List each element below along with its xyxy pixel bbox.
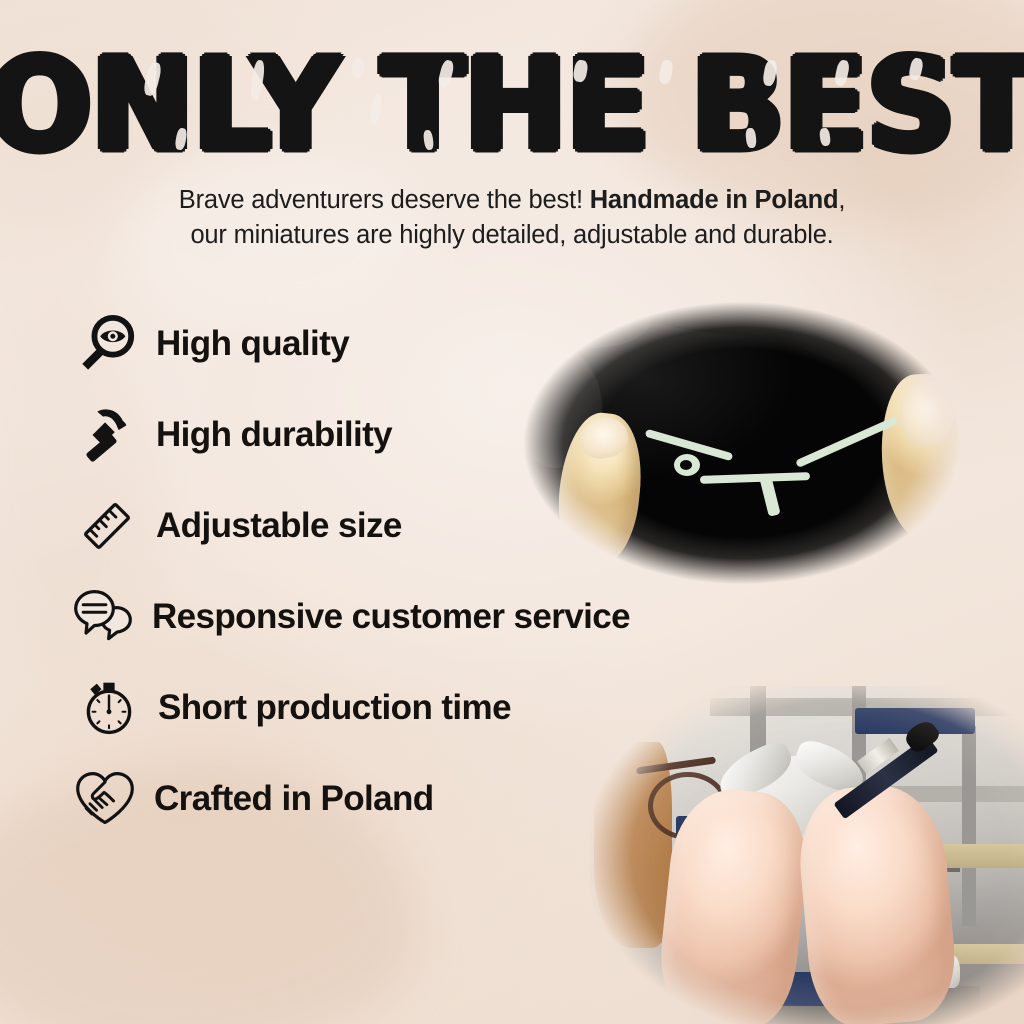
infographic-page: ONLY THE BEST Brave adventurers deserve … <box>0 0 1024 1024</box>
hammer-icon <box>70 398 144 472</box>
shelf-post <box>962 726 976 926</box>
subtitle-line-2: our miniatures are highly detailed, adju… <box>0 218 1024 253</box>
heart-handshake-icon <box>68 762 142 836</box>
feature-item-high-quality[interactable]: High quality <box>70 305 349 383</box>
feature-item-short-production-time[interactable]: Short production time <box>72 669 511 747</box>
torn-edge-patch <box>594 742 672 948</box>
subtitle-lead: Brave adventurers deserve the best! <box>179 186 590 214</box>
subtitle: Brave adventurers deserve the best! Hand… <box>0 183 1024 253</box>
chat-bubbles-icon <box>66 580 140 654</box>
feature-label: Short production time <box>158 688 511 728</box>
feature-item-high-durability[interactable]: High durability <box>70 396 392 474</box>
flexible-miniature-photo <box>492 278 992 608</box>
feature-label: Adjustable size <box>156 506 402 546</box>
magnifier-eye-icon <box>70 307 144 381</box>
feature-label: Crafted in Poland <box>154 779 434 819</box>
subtitle-line-1: Brave adventurers deserve the best! Hand… <box>0 183 1024 218</box>
ruler-icon <box>70 489 144 563</box>
feature-item-crafted-in-poland[interactable]: Crafted in Poland <box>68 760 434 838</box>
page-title: ONLY THE BEST <box>0 42 1024 170</box>
feature-label: High durability <box>156 415 392 455</box>
feature-item-adjustable-size[interactable]: Adjustable size <box>70 487 402 565</box>
workshop-painting-photo <box>590 686 1024 1024</box>
headline-container: ONLY THE BEST <box>0 42 1024 154</box>
stopwatch-icon <box>72 671 146 745</box>
feature-label: High quality <box>156 324 349 364</box>
subtitle-tail: , <box>838 186 845 214</box>
miniature-part-joint <box>680 460 692 470</box>
subtitle-bold: Handmade in Poland <box>590 186 839 214</box>
